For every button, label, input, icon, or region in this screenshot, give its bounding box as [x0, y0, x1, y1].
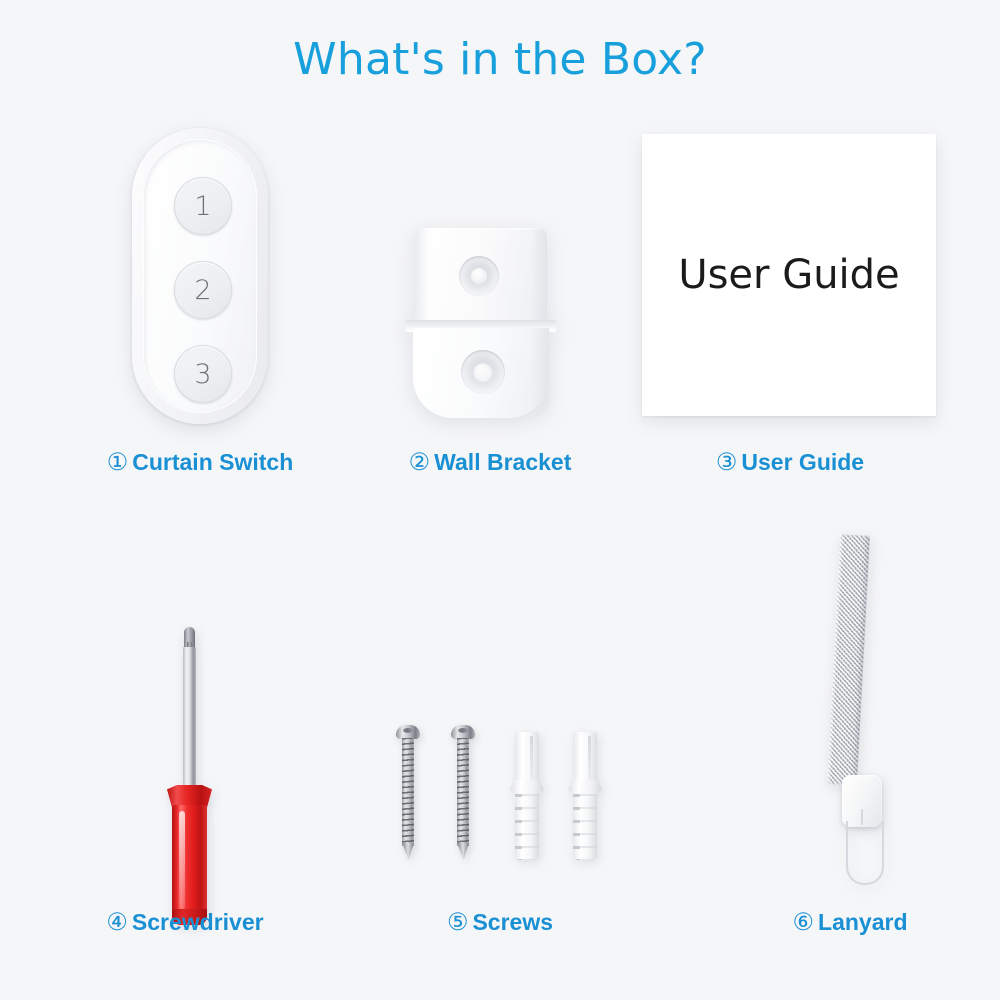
screw-shank-2 — [457, 738, 469, 846]
remote-face: 1 2 3 — [163, 159, 259, 415]
screwdriver-icon — [155, 625, 225, 925]
wall-bracket-icon — [405, 228, 557, 418]
caption-lanyard: ⑥Lanyard — [700, 908, 1000, 937]
remote-button-1[interactable]: 1 — [174, 177, 232, 235]
remote-inner-shell: 1 2 3 — [143, 139, 257, 413]
caption-screwdriver: ④Screwdriver — [35, 908, 335, 937]
product-item-screws — [350, 560, 650, 960]
user-guide-cover-text: User Guide — [678, 252, 899, 298]
product-item-screwdriver — [35, 560, 335, 960]
lanyard-icon — [818, 535, 898, 875]
screwdriver-handle — [172, 805, 207, 925]
item-label-5: Screws — [472, 909, 553, 935]
screwdriver-shaft — [183, 647, 196, 792]
bracket-screw-hole-top — [459, 256, 499, 296]
item-number-2: ② — [409, 449, 431, 476]
user-guide-booklet-icon: User Guide — [642, 134, 936, 416]
lanyard-loop-cord — [846, 821, 884, 885]
screw-point-2 — [457, 843, 469, 860]
anchor-body-1 — [515, 794, 539, 860]
remote-button-2[interactable]: 2 — [174, 261, 232, 319]
caption-screws: ⑤Screws — [350, 908, 650, 937]
page-title: What's in the Box? — [0, 34, 1000, 85]
bracket-screw-hole-bottom — [461, 350, 505, 394]
anchor-collar-2 — [573, 732, 597, 784]
wall-anchor-icon-1 — [510, 732, 544, 860]
item-number-4: ④ — [106, 909, 128, 936]
bracket-hole-bottom-center — [473, 362, 493, 382]
screw-head-1 — [396, 725, 420, 739]
product-item-lanyard — [700, 510, 1000, 960]
screw-head-2 — [451, 725, 475, 739]
caption-wall-bracket: ②Wall Bracket — [350, 448, 630, 477]
item-label-6: Lanyard — [818, 909, 907, 935]
anchor-collar-1 — [515, 732, 539, 784]
item-number-6: ⑥ — [793, 909, 815, 936]
curtain-switch-remote-icon: 1 2 3 — [132, 128, 268, 424]
screw-icon-1 — [395, 725, 421, 860]
caption-curtain-switch: ①Curtain Switch — [60, 448, 340, 477]
anchor-body-2 — [573, 794, 597, 860]
wall-anchor-icon-2 — [568, 732, 602, 860]
item-number-5: ⑤ — [447, 909, 469, 936]
item-label-3: User Guide — [741, 449, 864, 475]
item-label-1: Curtain Switch — [132, 449, 293, 475]
bracket-hole-top-center — [471, 268, 487, 284]
item-label-4: Screwdriver — [132, 909, 264, 935]
screw-shank-1 — [402, 738, 414, 846]
item-label-2: Wall Bracket — [434, 449, 571, 475]
item-number-1: ① — [107, 449, 129, 476]
caption-user-guide: ③User Guide — [640, 448, 940, 477]
screw-point-1 — [402, 843, 414, 860]
screw-icon-2 — [450, 725, 476, 860]
item-number-3: ③ — [716, 449, 738, 476]
lanyard-strap-edge — [827, 534, 870, 785]
remote-button-3[interactable]: 3 — [174, 345, 232, 403]
